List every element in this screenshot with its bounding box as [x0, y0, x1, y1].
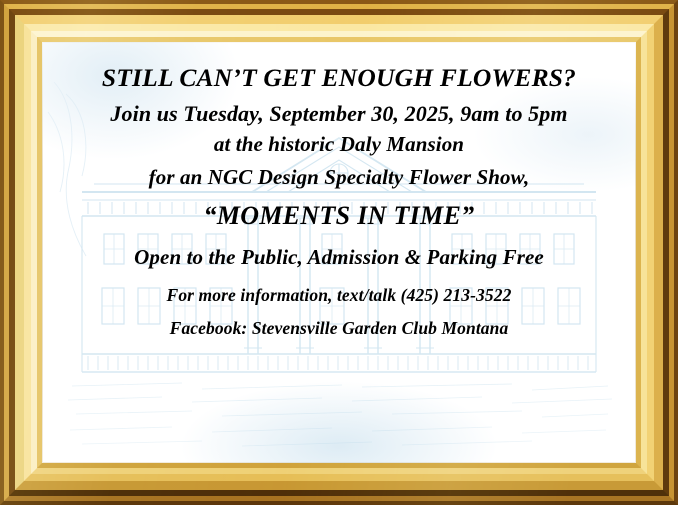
flyer-venue: at the historic Daly Mansion: [52, 133, 626, 157]
poster-canvas: STILL CAN’T GET ENOUGH FLOWERS? Join us …: [42, 42, 636, 463]
flyer-event-type: for an NGC Design Specialty Flower Show,: [52, 166, 626, 190]
framed-flyer: STILL CAN’T GET ENOUGH FLOWERS? Join us …: [0, 0, 678, 505]
flyer-date-time: Join us Tuesday, September 30, 2025, 9am…: [52, 102, 626, 127]
flyer-text-block: STILL CAN’T GET ENOUGH FLOWERS? Join us …: [42, 42, 636, 463]
flyer-theme-title: “MOMENTS IN TIME”: [52, 201, 626, 230]
flyer-facebook-handle: Facebook: Stevensville Garden Club Monta…: [52, 319, 626, 339]
flyer-headline: STILL CAN’T GET ENOUGH FLOWERS?: [52, 64, 626, 93]
flyer-admission-note: Open to the Public, Admission & Parking …: [52, 246, 626, 270]
flyer-contact-phone: For more information, text/talk (425) 21…: [52, 286, 626, 306]
